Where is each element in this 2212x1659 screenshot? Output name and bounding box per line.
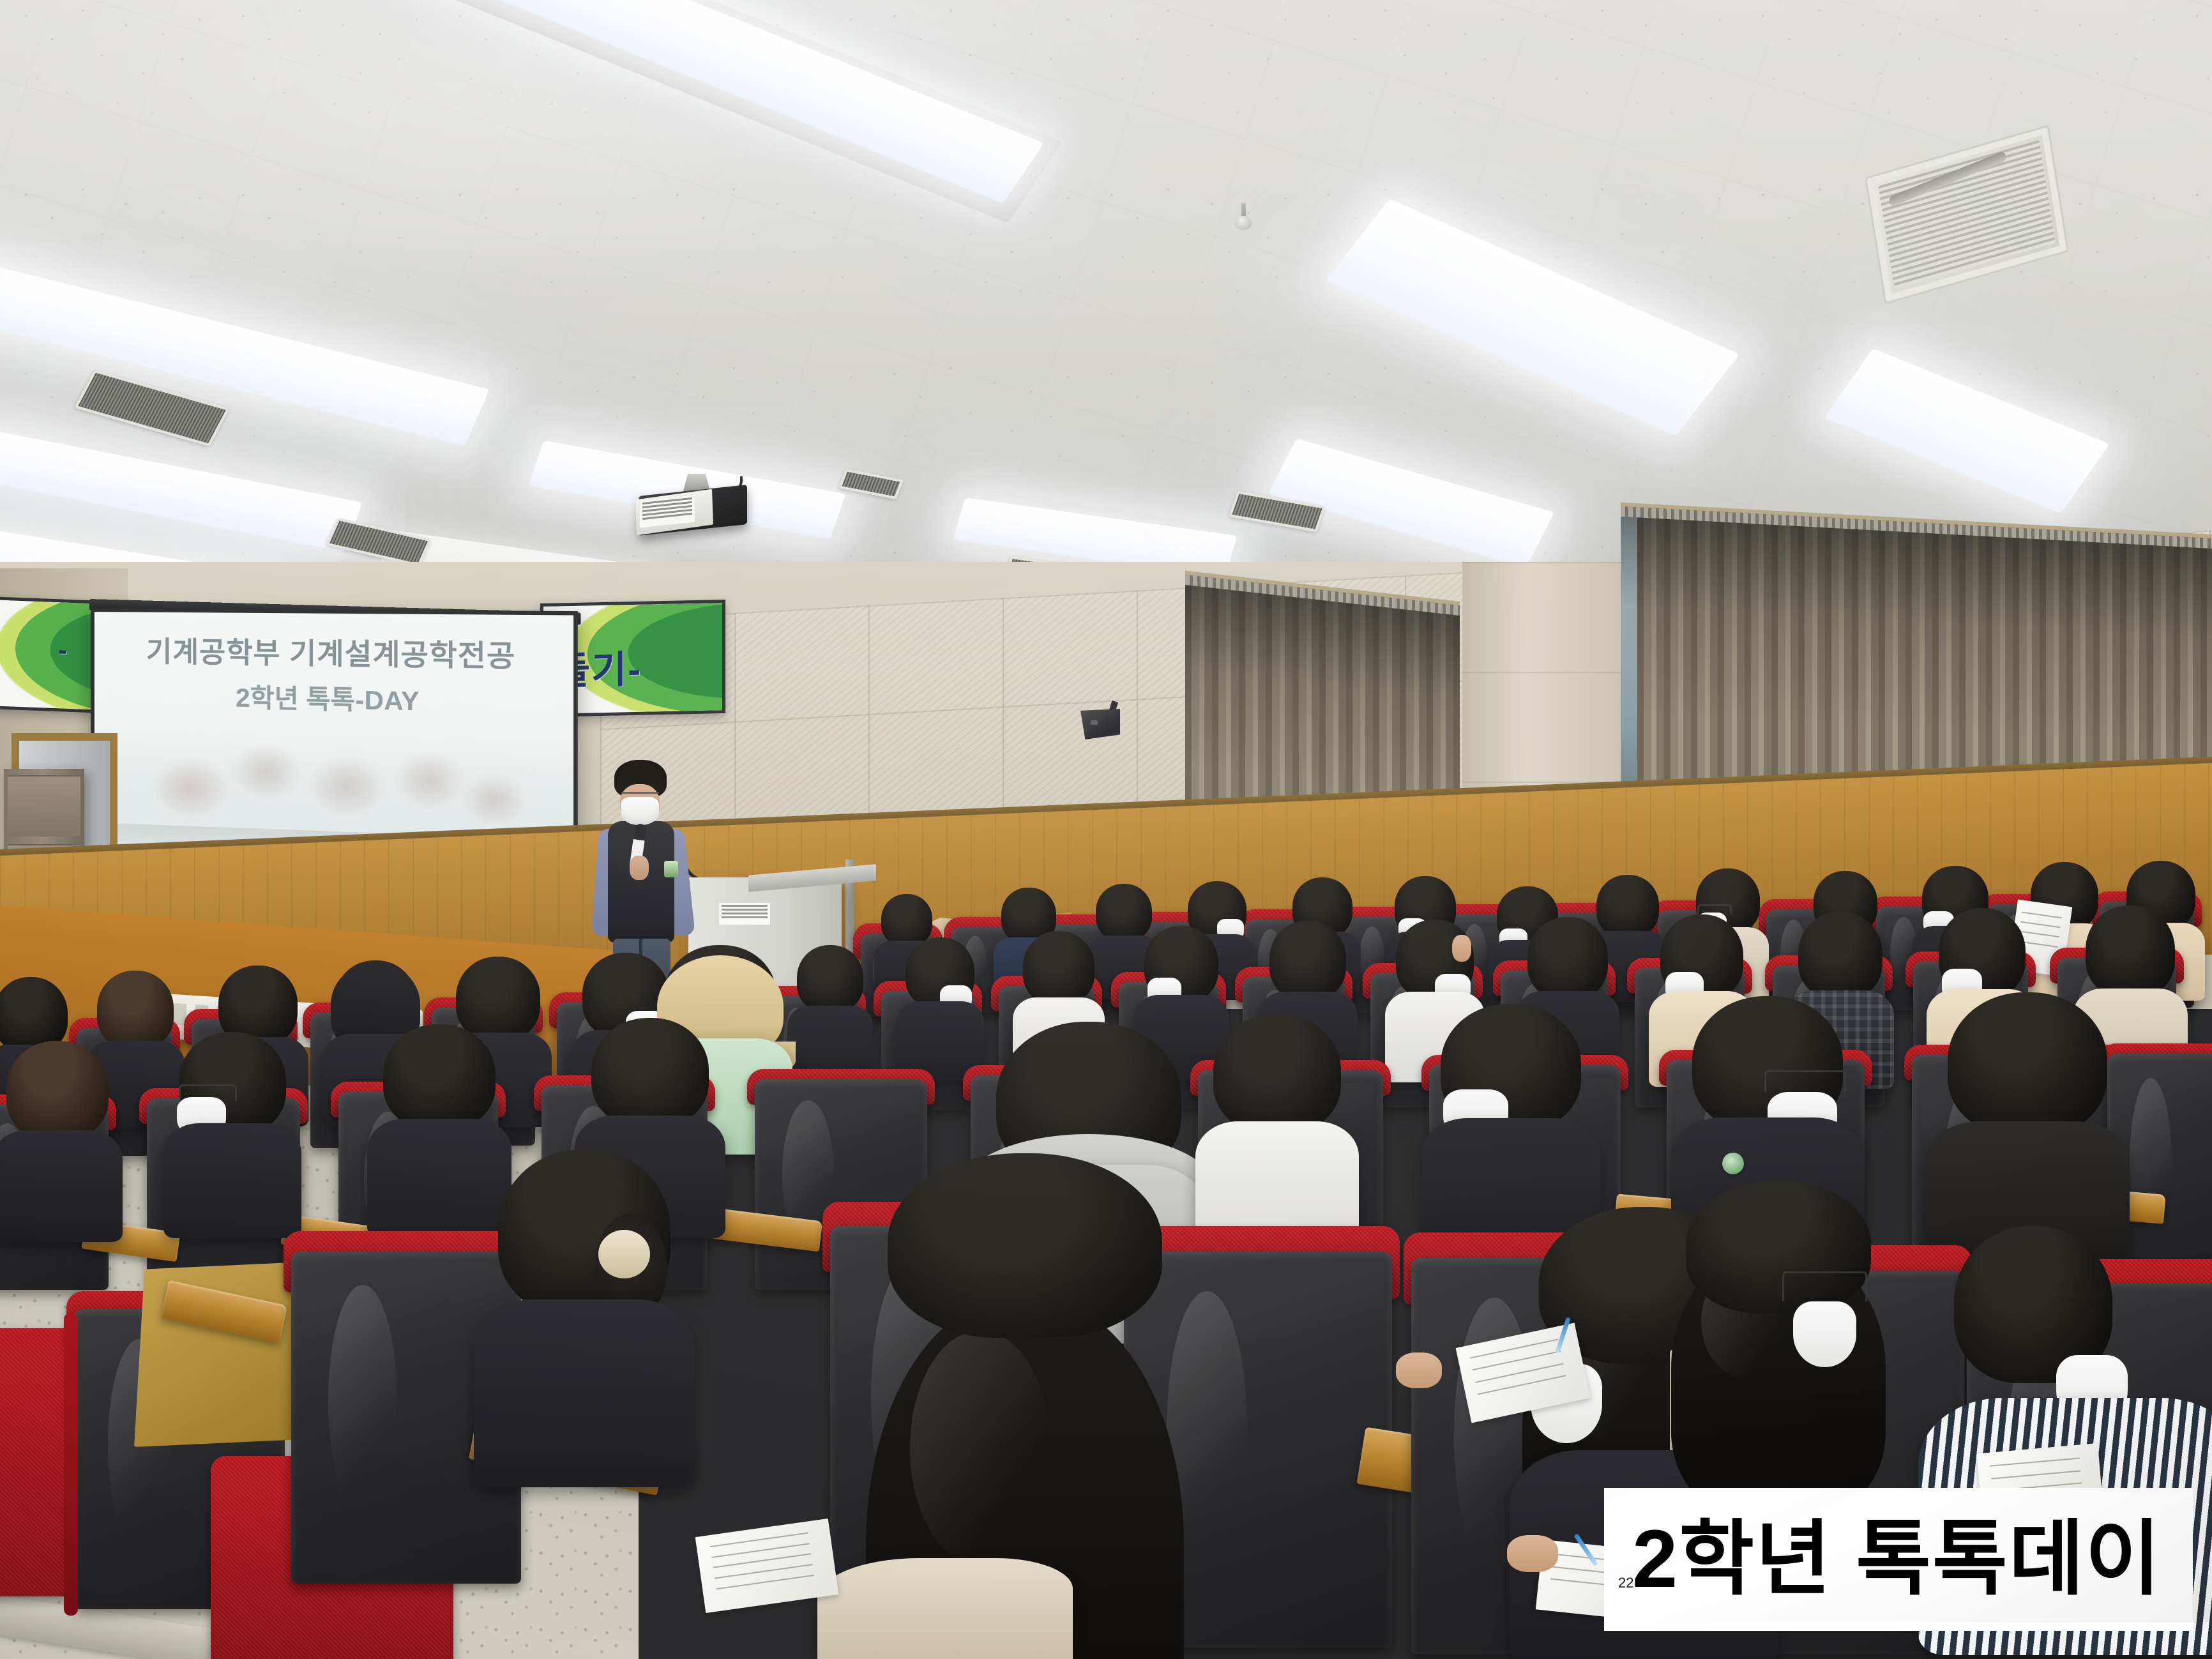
raised-hand <box>1452 935 1471 962</box>
banner-left-text: - <box>58 634 69 667</box>
audience-member <box>1948 992 2107 1222</box>
person-head <box>888 1153 1162 1338</box>
person-head <box>1213 1014 1341 1133</box>
ceiling-projector <box>639 474 747 538</box>
caption-title: 2학년 톡톡데이 <box>1632 1519 2162 1600</box>
audience-member <box>1692 996 1843 1213</box>
audience-member <box>1096 884 1152 976</box>
person-head <box>2086 905 2175 997</box>
person-head <box>1269 921 1346 999</box>
sprinkler-deflector <box>1235 216 1252 230</box>
person-head <box>97 971 174 1049</box>
cabinet-drawer[interactable] <box>8 775 80 837</box>
person-torso <box>817 1558 1073 1659</box>
person-head <box>591 1018 709 1126</box>
audience-member <box>6 1041 109 1201</box>
person-head <box>1798 912 1882 999</box>
slide-title-line-1: 기계공학부 기계설계공학전공 <box>95 633 573 677</box>
person-head <box>1948 992 2107 1135</box>
lecture-hall-photo: - 들기- 기계공학부 기계설계공학전공 2학년 톡톡-DAY <box>0 0 2212 1659</box>
person-head <box>1096 884 1152 941</box>
audience-member <box>179 1032 286 1195</box>
hair-scrunchie <box>598 1230 650 1278</box>
presenter-hand <box>630 856 649 880</box>
person-torso <box>163 1123 301 1238</box>
jacket-patch <box>1722 1153 1744 1174</box>
person-head <box>6 1041 109 1140</box>
person-head <box>1023 931 1095 1004</box>
presenter-face-mask <box>621 797 659 825</box>
presenter-arm-patch <box>664 861 678 877</box>
tablet-armrest <box>134 1262 307 1447</box>
audience-member <box>1213 1014 1341 1206</box>
person-torso <box>367 1119 511 1237</box>
hand <box>1507 1535 1558 1572</box>
hand <box>1396 1352 1442 1388</box>
eyeglasses <box>1764 1070 1845 1092</box>
audience-member <box>97 971 174 1096</box>
face-mask <box>1793 1301 1856 1367</box>
slide-title-line-2: 2학년 톡톡-DAY <box>95 674 573 722</box>
lectern-warning-label <box>719 903 770 925</box>
caption-overlay: 22 2학년 톡톡데이 <box>1604 1488 2193 1631</box>
person-torso <box>474 1299 695 1487</box>
audience-member <box>1441 1004 1581 1208</box>
person-head <box>383 1024 496 1129</box>
eyeglasses <box>1782 1271 1867 1301</box>
audience-member <box>905 937 974 1051</box>
audience-member-ponytail <box>498 1149 670 1418</box>
wall-speaker <box>1080 709 1120 739</box>
person-torso <box>0 1130 123 1242</box>
seat-side-panel <box>64 1313 78 1616</box>
audience-member <box>797 945 863 1054</box>
audience-member <box>383 1024 496 1193</box>
audience-member-glasses <box>1686 1181 1871 1481</box>
fire-sprinkler-head <box>1234 203 1253 236</box>
person-head <box>797 945 863 1012</box>
person-head <box>1527 917 1608 999</box>
caption-superscript: 22 <box>1618 1575 1633 1591</box>
